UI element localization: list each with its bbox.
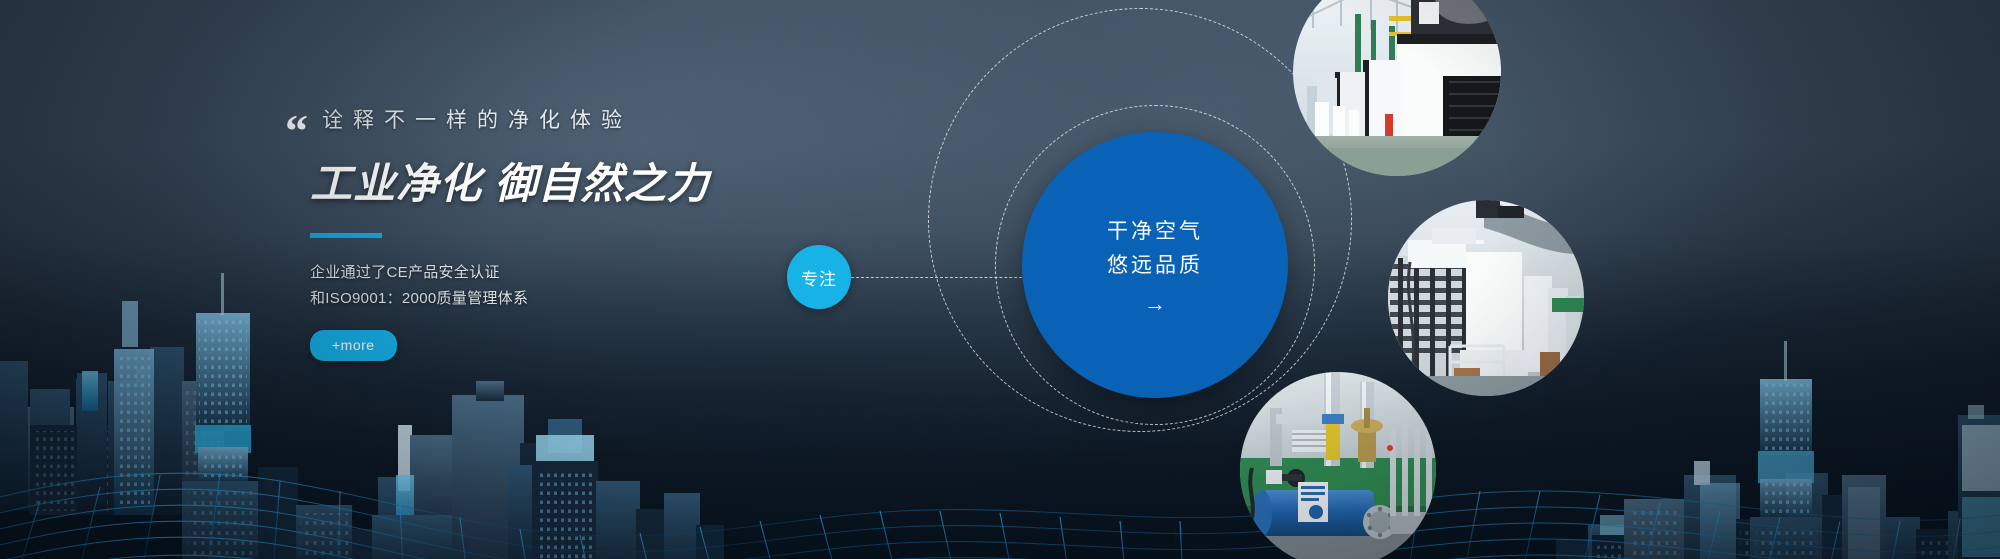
banner-headline: 工业净化 御自然之力 — [310, 150, 910, 211]
banner-description-line1: 企业通过了CE产品安全认证 — [310, 260, 910, 286]
hero-circle-line1: 干净空气 — [1107, 215, 1203, 249]
hero-circle-line2: 悠远品质 — [1107, 249, 1203, 283]
hero-circle[interactable]: 干净空气 悠远品质 → — [1022, 132, 1288, 398]
machinery-hall-illustration — [1388, 200, 1584, 396]
banner-kicker: 诠释不一样的净化体验 — [310, 104, 910, 134]
quote-mark-icon: “ — [285, 108, 306, 154]
arrow-right-icon: → — [1144, 293, 1166, 315]
accent-rule — [310, 233, 382, 238]
orbit-graphic — [0, 0, 2000, 559]
machinery-hall-photo[interactable] — [1388, 200, 1584, 396]
hero-banner: 专注 干净空气 悠远品质 → — [0, 0, 2000, 559]
piping-equipment-photo[interactable] — [1240, 372, 1436, 559]
more-button[interactable]: +more — [310, 330, 397, 361]
banner-description: 企业通过了CE产品安全认证 和ISO9001：2000质量管理体系 — [310, 260, 910, 312]
piping-equipment-illustration — [1240, 372, 1436, 559]
banner-copy: “ 诠释不一样的净化体验 工业净化 御自然之力 企业通过了CE产品安全认证 和I… — [310, 104, 910, 361]
banner-description-line2: 和ISO9001：2000质量管理体系 — [310, 286, 910, 312]
